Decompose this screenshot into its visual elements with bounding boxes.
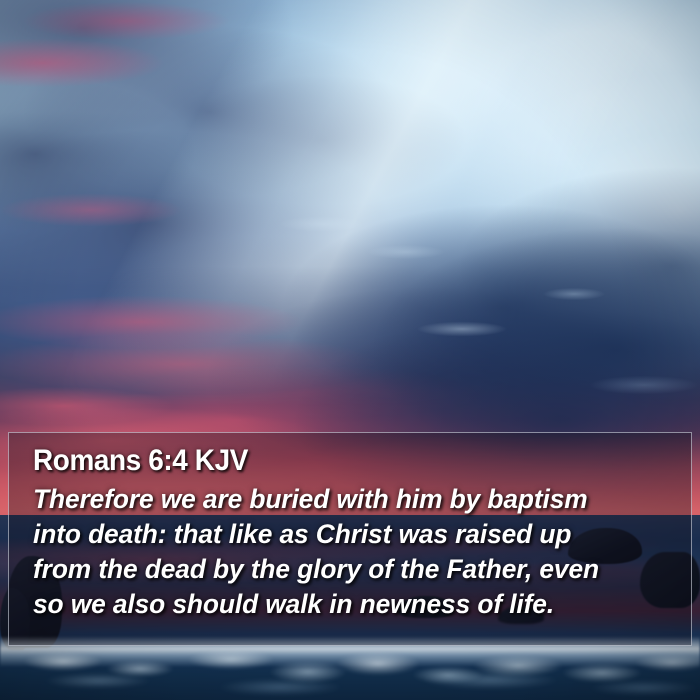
verse-line-4: so we also should walk in newness of lif… — [33, 587, 684, 622]
foreground-waves — [0, 668, 700, 700]
verse-text: Therefore we are buried with him by bapt… — [33, 482, 684, 622]
verse-reference: Romans 6:4 KJV — [33, 443, 630, 479]
verse-line-3: from the dead by the glory of the Father… — [33, 552, 684, 587]
verse-line-1: Therefore we are buried with him by bapt… — [33, 482, 684, 517]
verse-line-2: into death: that like as Christ was rais… — [33, 517, 684, 552]
bible-verse-image: Romans 6:4 KJV Therefore we are buried w… — [0, 0, 700, 700]
verse-overlay-panel: Romans 6:4 KJV Therefore we are buried w… — [8, 432, 692, 646]
